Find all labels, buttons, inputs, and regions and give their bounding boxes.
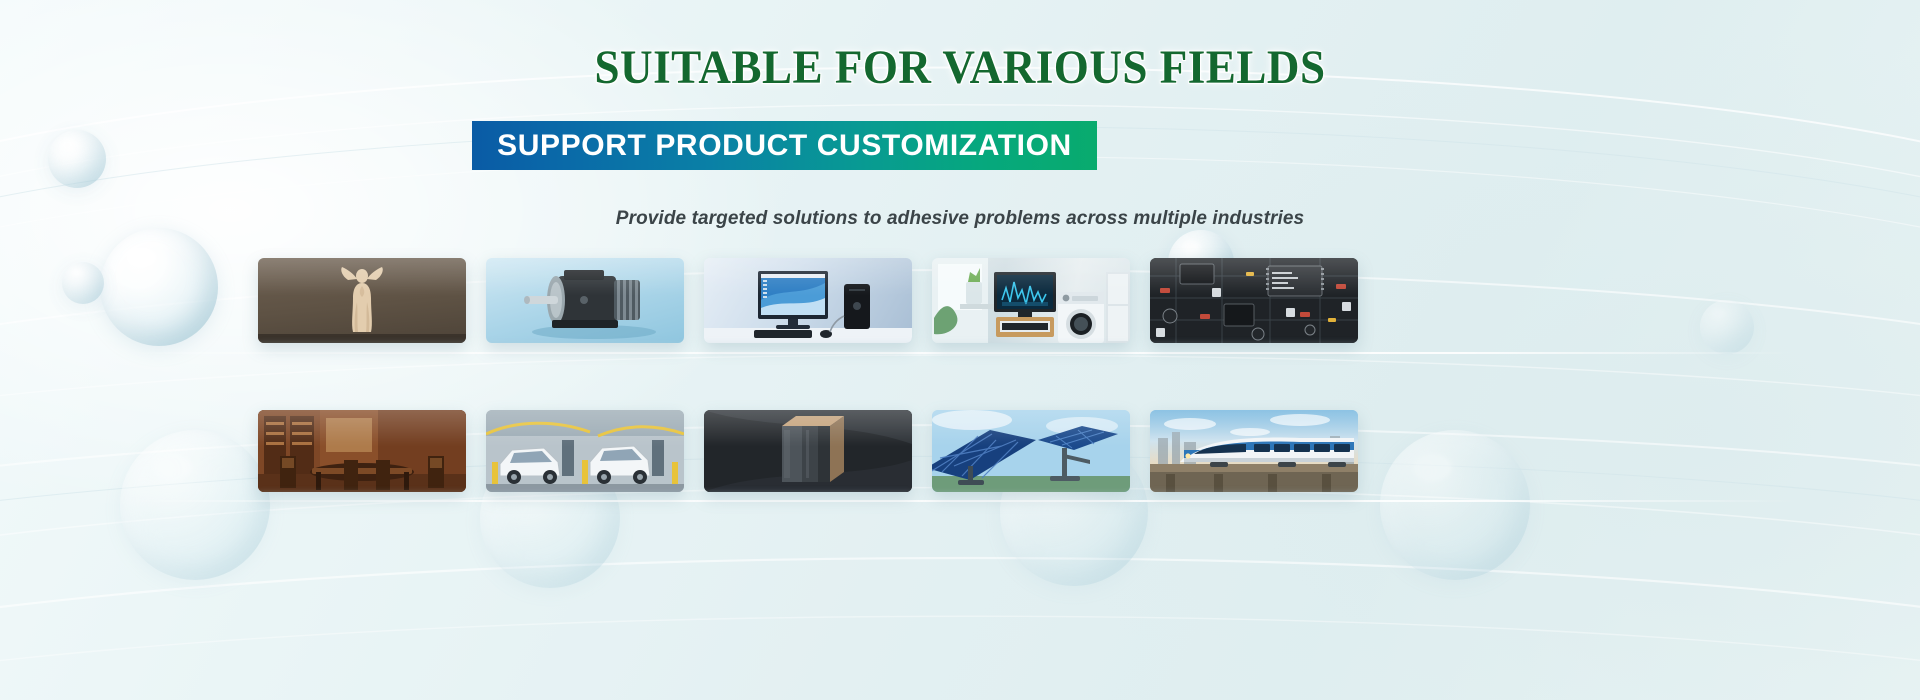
home-appliances-image: [932, 258, 1130, 343]
card-home-appliances[interactable]: [932, 258, 1130, 343]
background-arc-lines: [0, 0, 1920, 700]
electric-motor-image: [486, 258, 684, 343]
metal-block-icon: [704, 410, 912, 492]
page-title: SUITABLE FOR VARIOUS FIELDS: [58, 40, 1863, 95]
electric-motor-icon: [486, 258, 684, 343]
card-electric-motor[interactable]: [486, 258, 684, 343]
desktop-computer-icon: [704, 258, 912, 343]
shelf-line-row1: [120, 352, 1800, 354]
card-metal-material-block[interactable]: [704, 410, 912, 492]
industry-row-1: [258, 258, 1358, 343]
shelf-line-row2: [120, 500, 1800, 502]
automotive-assembly-image: [486, 410, 684, 492]
card-classical-furniture[interactable]: [258, 410, 466, 492]
automotive-assembly-icon: [486, 410, 684, 492]
solar-panels-image: [932, 410, 1130, 492]
card-handicraft-sculpture[interactable]: [258, 258, 466, 343]
bubble-small-left: [62, 262, 104, 304]
high-speed-train-icon: [1150, 410, 1358, 492]
card-desktop-computer[interactable]: [704, 258, 912, 343]
customization-banner-label: SUPPORT PRODUCT CUSTOMIZATION: [497, 129, 1072, 163]
handicraft-sculpture-image: [258, 258, 466, 343]
pcb-icon: [1150, 258, 1358, 343]
card-printed-circuit-board[interactable]: [1150, 258, 1358, 343]
bubble-far-right: [1700, 300, 1754, 354]
card-automotive-assembly[interactable]: [486, 410, 684, 492]
furniture-icon: [258, 410, 466, 492]
home-appliances-icon: [932, 258, 1130, 343]
industry-row-2: [258, 410, 1358, 492]
promo-banner-stage: SUITABLE FOR VARIOUS FIELDS SUPPORT PROD…: [0, 0, 1920, 700]
customization-banner: SUPPORT PRODUCT CUSTOMIZATION: [472, 121, 1097, 170]
desktop-computer-image: [704, 258, 912, 343]
card-solar-panels[interactable]: [932, 410, 1130, 492]
card-high-speed-train[interactable]: [1150, 410, 1358, 492]
metal-material-block-image: [704, 410, 912, 492]
high-speed-train-image: [1150, 410, 1358, 492]
angel-sculpture-icon: [338, 262, 386, 336]
bubble-medium-left: [48, 130, 106, 188]
classical-furniture-image: [258, 410, 466, 492]
bubble-row-d: [1380, 430, 1530, 580]
solar-panel-icon: [932, 410, 1130, 492]
page-subtitle: Provide targeted solutions to adhesive p…: [0, 208, 1920, 230]
printed-circuit-board-image: [1150, 258, 1358, 343]
bubble-row-a: [120, 430, 270, 580]
bubble-large-left: [100, 228, 218, 346]
sculpture-base: [258, 334, 466, 343]
